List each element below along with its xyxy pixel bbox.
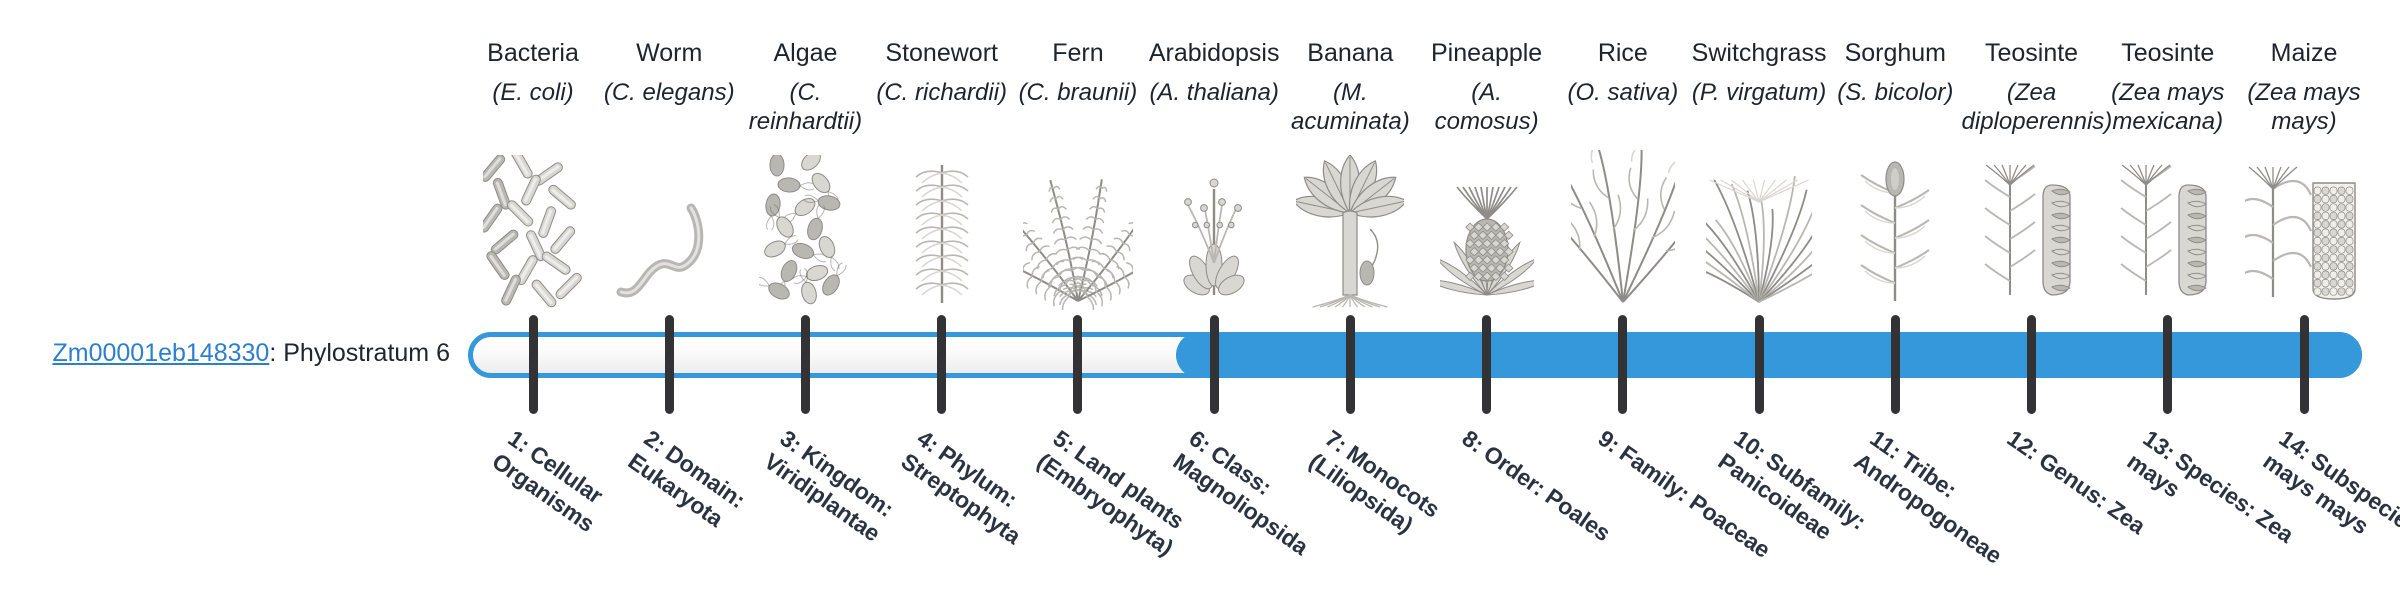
- species-common-name: Bacteria: [463, 38, 603, 68]
- species-common-name: Switchgrass: [1689, 38, 1829, 68]
- maize-illustration: [2234, 150, 2374, 310]
- rice-illustration: [1553, 150, 1693, 310]
- stratum-tick: [529, 315, 538, 414]
- species-header: Stonewort(C. richardii): [872, 38, 1012, 107]
- stratum-taxon: Zea: [2103, 495, 2150, 539]
- teosinte-illustration: [1962, 150, 2102, 310]
- species-common-name: Teosinte: [2098, 38, 2238, 68]
- species-common-name: Pineapple: [1417, 38, 1557, 68]
- species-common-name: Fern: [1008, 38, 1148, 68]
- stratum-tick: [665, 315, 674, 414]
- stratum-number: 12:: [2002, 425, 2044, 465]
- species-header: Pineapple(A. comosus): [1417, 38, 1557, 136]
- species-latin-name: (A. thaliana): [1144, 78, 1284, 107]
- species-common-name: Stonewort: [872, 38, 1012, 68]
- species-header: Rice(O. sativa): [1553, 38, 1693, 107]
- algae-illustration: [735, 150, 875, 310]
- species-common-name: Maize: [2234, 38, 2374, 68]
- gene-id-link[interactable]: Zm00001eb148330: [52, 339, 269, 367]
- stratum-rank: Species:: [2170, 447, 2261, 522]
- arabidopsis-illustration: [1144, 150, 1284, 310]
- species-latin-name: (Zea mays mexicana): [2098, 78, 2238, 136]
- sorghum-illustration: [1825, 150, 1965, 310]
- phylostratigraphy-diagram: Zm00001eb148330: Phylostratum 6 1: Cellu…: [0, 0, 2400, 580]
- stratum-tick: [1346, 315, 1355, 414]
- species-header: Arabidopsis(A. thaliana): [1144, 38, 1284, 107]
- species-latin-name: (C. richardii): [872, 78, 1012, 107]
- stonewort-illustration: [872, 150, 1012, 310]
- species-common-name: Worm: [599, 38, 739, 68]
- species-latin-name: (O. sativa): [1553, 78, 1693, 107]
- stratum-tick: [801, 315, 810, 414]
- species-common-name: Sorghum: [1825, 38, 1965, 68]
- stratum-tick: [1482, 315, 1491, 414]
- species-latin-name: (S. bicolor): [1825, 78, 1965, 107]
- species-latin-name: (C. braunii): [1008, 78, 1148, 107]
- species-header: Algae(C. reinhardtii): [735, 38, 875, 136]
- species-latin-name: (Zea diploperennis): [1962, 78, 2102, 136]
- species-latin-name: (A. comosus): [1417, 78, 1557, 136]
- stratum-tick: [1891, 315, 1900, 414]
- species-latin-name: (P. virgatum): [1689, 78, 1829, 107]
- stratum-taxon: Poales: [1540, 483, 1615, 546]
- species-latin-name: (M. acuminata): [1280, 78, 1420, 136]
- species-header: Banana(M. acuminata): [1280, 38, 1420, 136]
- species-latin-name: (Zea mays mays): [2234, 78, 2374, 136]
- stratum-rank: Family:: [1615, 440, 1695, 507]
- fern-illustration: [1008, 150, 1148, 310]
- stratum-tick: [1618, 315, 1627, 414]
- species-latin-name: (C. reinhardtii): [735, 78, 875, 136]
- species-header: Switchgrass(P. virgatum): [1689, 38, 1829, 107]
- species-common-name: Banana: [1280, 38, 1420, 68]
- switchgrass-illustration: [1689, 150, 1829, 310]
- species-latin-name: (E. coli): [463, 78, 603, 107]
- gene-phylostratum-label: Zm00001eb148330: Phylostratum 6: [30, 339, 450, 368]
- species-common-name: Algae: [735, 38, 875, 68]
- stratum-tick: [2300, 315, 2309, 414]
- species-header: Fern(C. braunii): [1008, 38, 1148, 107]
- stratum-tick: [1210, 315, 1219, 414]
- species-header: Maize(Zea mays mays): [2234, 38, 2374, 136]
- stratum-tick: [2163, 315, 2172, 414]
- species-header: Sorghum(S. bicolor): [1825, 38, 1965, 107]
- gene-label-separator: :: [269, 339, 283, 367]
- species-common-name: Teosinte: [1962, 38, 2102, 68]
- phylostratum-value: Phylostratum 6: [283, 339, 450, 367]
- species-latin-name: (C. elegans): [599, 78, 739, 107]
- stratum-tick: [1073, 315, 1082, 414]
- stratum-rank: Order:: [1479, 440, 1551, 501]
- species-header: Bacteria(E. coli): [463, 38, 603, 107]
- stratum-tick: [2027, 315, 2036, 414]
- worm-illustration: [599, 150, 739, 310]
- species-header: Teosinte(Zea diploperennis): [1962, 38, 2102, 136]
- teosinte-mexicana-illustration: [2098, 150, 2238, 310]
- species-common-name: Arabidopsis: [1144, 38, 1284, 68]
- pineapple-illustration: [1417, 150, 1557, 310]
- species-header: Worm(C. elegans): [599, 38, 739, 107]
- stratum-tick: [937, 315, 946, 414]
- species-common-name: Rice: [1553, 38, 1693, 68]
- banana-illustration: [1280, 150, 1420, 310]
- stratum-rank: Genus:: [2034, 447, 2113, 513]
- stratum-tick: [1755, 315, 1764, 414]
- species-header: Teosinte(Zea mays mexicana): [2098, 38, 2238, 136]
- bacteria-illustration: [463, 150, 603, 310]
